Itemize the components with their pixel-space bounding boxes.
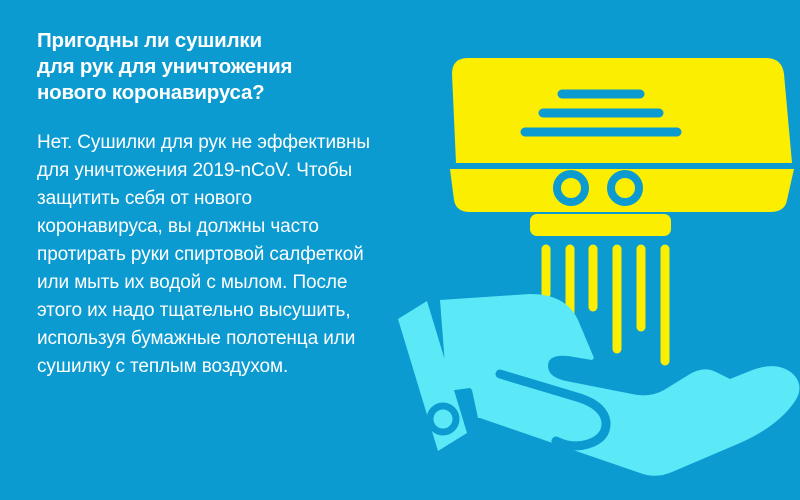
- body-paragraph: Нет. Сушилки для рук не эффективны для у…: [37, 129, 373, 381]
- text-column: Пригодны ли сушилки для рук для уничтоже…: [37, 28, 367, 106]
- infographic-poster: Пригодны ли сушилки для рук для уничтоже…: [0, 0, 800, 500]
- headline: Пригодны ли сушилки для рук для уничтоже…: [37, 28, 367, 106]
- dryer-nozzle-bar: [530, 214, 671, 236]
